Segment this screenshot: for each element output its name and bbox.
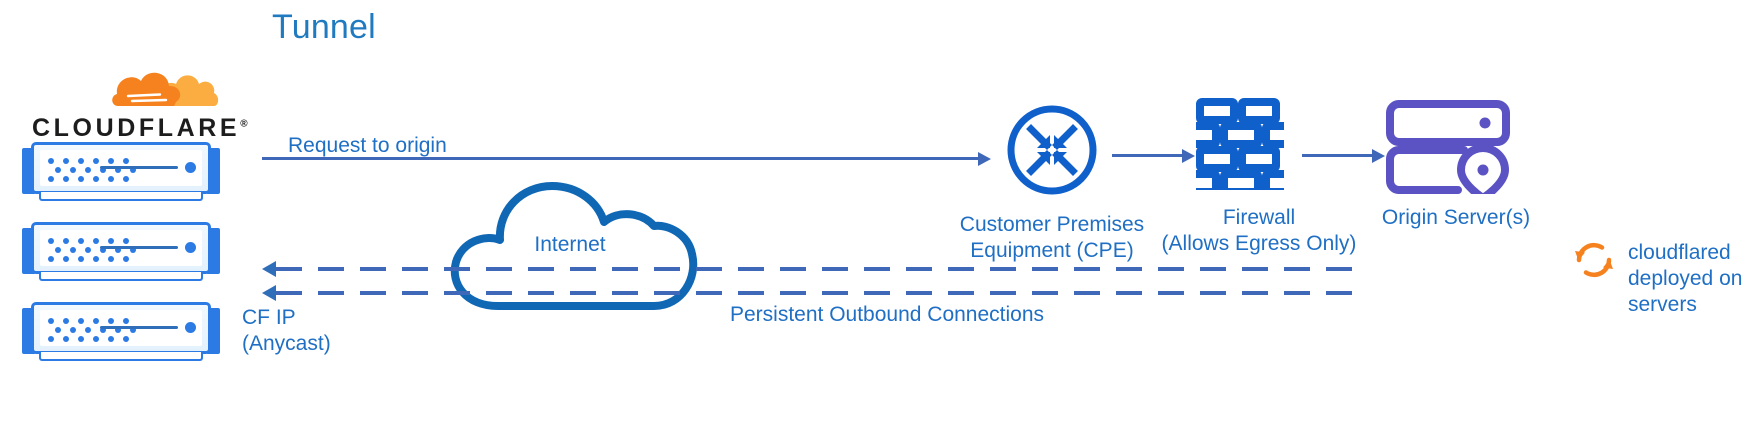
origin-server-label: Origin Server(s)	[1368, 205, 1544, 231]
router-icon	[1006, 104, 1098, 196]
server-base	[39, 272, 203, 281]
server-unit-2	[22, 222, 220, 282]
server-unit-1	[22, 142, 220, 202]
page-title: Tunnel	[272, 8, 376, 47]
server-indicator-line	[100, 326, 178, 329]
firewall-to-origin-line	[1302, 154, 1374, 157]
server-indicator-line	[100, 246, 178, 249]
server-indicator-line	[100, 166, 178, 169]
persistent-connections-label: Persistent Outbound Connections	[730, 302, 1044, 328]
origin-server-pin-icon	[1386, 98, 1514, 194]
internet-cloud-icon	[440, 138, 720, 313]
cpe-to-firewall-line	[1112, 154, 1184, 157]
server-status-dot	[185, 322, 196, 333]
internet-label: Internet	[500, 232, 640, 258]
cloudflare-logo: CLOUDFLARE®	[30, 72, 230, 140]
firewall-to-origin-arrow-head	[1372, 149, 1385, 163]
cloudflared-annotation-label: cloudflared deployed on servers	[1628, 240, 1742, 318]
server-vents-icon	[48, 158, 144, 182]
firewall-label: Firewall (Allows Egress Only)	[1158, 205, 1360, 257]
request-arrow-head	[978, 152, 991, 166]
server-unit-3	[22, 302, 220, 362]
brick-wall-icon	[1196, 98, 1284, 190]
server-vents-icon	[48, 318, 144, 342]
persistent-arrow-head-top	[262, 261, 276, 277]
cpe-to-firewall-arrow-head	[1182, 149, 1195, 163]
server-vents-icon	[48, 238, 144, 262]
persistent-line-bottom	[276, 291, 1360, 295]
cpe-label: Customer Premises Equipment (CPE)	[948, 212, 1156, 264]
cf-ip-anycast-label: CF IP (Anycast)	[242, 305, 331, 357]
sync-refresh-icon	[1572, 238, 1616, 282]
server-base	[39, 192, 203, 201]
server-status-dot	[185, 162, 196, 173]
cloudflare-wordmark: CLOUDFLARE®	[32, 114, 251, 143]
cloudflare-cloud-icon	[110, 66, 220, 112]
server-status-dot	[185, 242, 196, 253]
persistent-line-top	[276, 267, 1360, 271]
persistent-arrow-head-bottom	[262, 285, 276, 301]
server-base	[39, 352, 203, 361]
request-to-origin-label: Request to origin	[288, 133, 447, 159]
